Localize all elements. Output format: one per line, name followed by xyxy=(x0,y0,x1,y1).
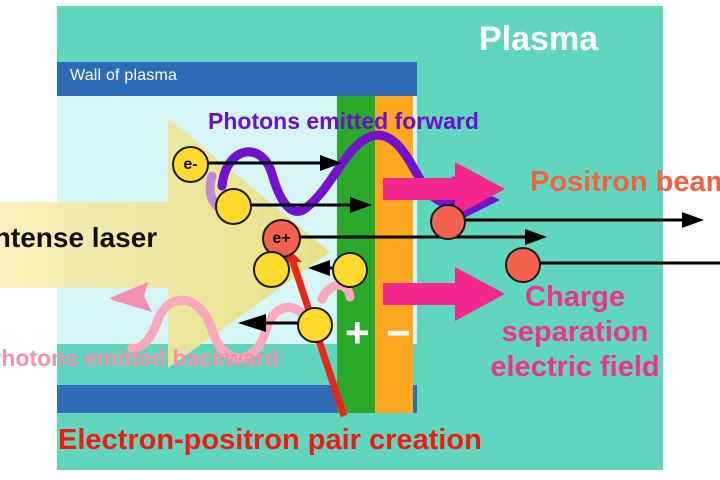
electron-particle-labeled: e- xyxy=(172,146,209,183)
electron-particle-2 xyxy=(215,188,252,225)
positron-beam-particle-2 xyxy=(505,247,541,283)
photons-backward-label: Photons emitted backward xyxy=(0,345,279,372)
positron-arrow-long-head xyxy=(525,229,547,245)
electron-label: e- xyxy=(183,156,197,174)
negative-sign: − xyxy=(386,312,411,354)
charge-line-3: electric field xyxy=(470,350,680,385)
plasma-label: Plasma xyxy=(479,20,598,59)
positive-sign: + xyxy=(345,312,370,354)
electron-return-arrow-1-head xyxy=(308,260,330,276)
electron-return-arrow-2-head xyxy=(238,314,266,332)
positron-beam-arrow-1-head xyxy=(682,212,704,228)
charge-line-1: Charge xyxy=(470,280,680,315)
figure-root: Wall of plasma xyxy=(0,0,720,480)
positron-beam-particle-1 xyxy=(430,204,466,240)
photons-forward-label: Photons emitted forward xyxy=(208,108,479,135)
electron-particle-5 xyxy=(297,307,333,343)
positron-label: e+ xyxy=(272,230,290,248)
electron-particle-3 xyxy=(253,251,290,288)
pair-creation-label: Electron-positron pair creation xyxy=(58,424,482,457)
backward-photon-arrowhead xyxy=(110,282,152,312)
electron-particle-4 xyxy=(332,252,368,288)
intense-laser-label: intense laser xyxy=(0,222,157,254)
positron-beam-label: Positron beam xyxy=(530,166,720,199)
electron-arrow-2-head xyxy=(350,197,372,213)
charge-separation-field-label: Charge separation electric field xyxy=(470,280,680,385)
charge-line-2: separation xyxy=(470,315,680,350)
